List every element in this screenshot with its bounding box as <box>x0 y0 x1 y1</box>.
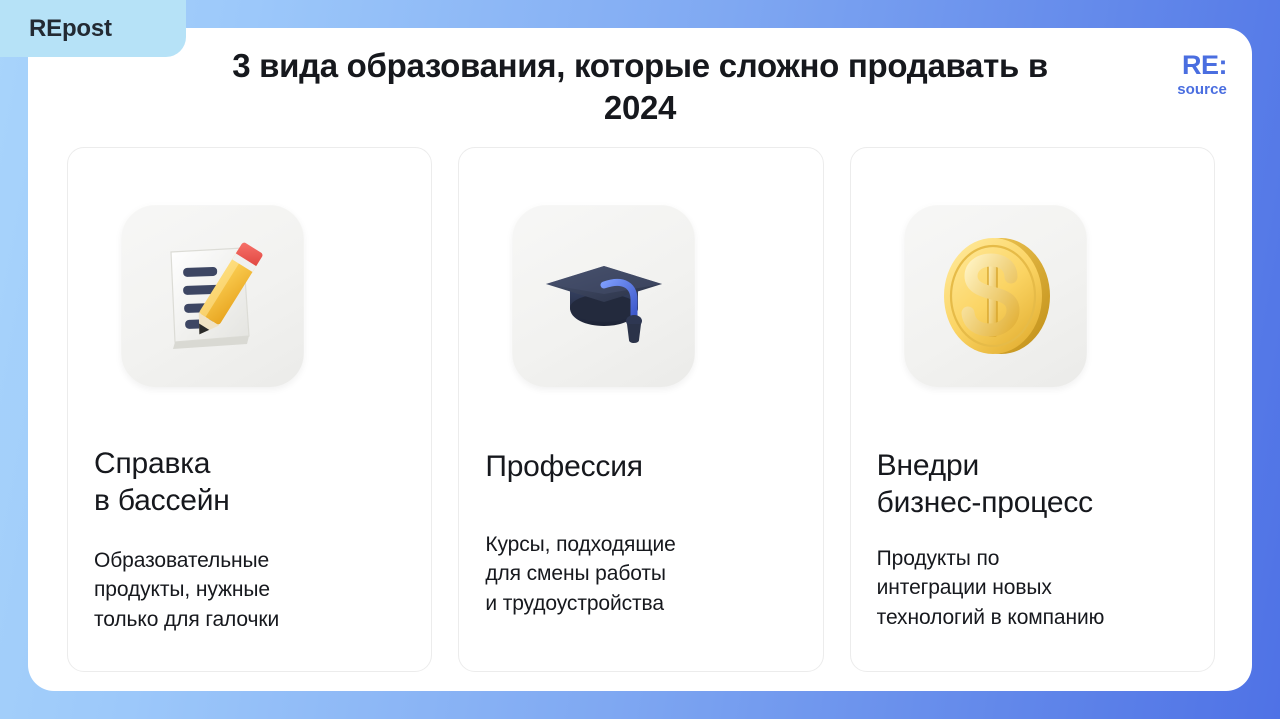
card-spravka-v-bassein: Справка в бассейн Образовательные продук… <box>67 147 432 672</box>
logo-re-text: RE: <box>1177 52 1227 79</box>
repost-badge-label: REpost <box>29 15 112 43</box>
memo-pencil-icon <box>121 204 304 387</box>
card-title: Профессия <box>485 448 796 486</box>
card-title: Внедри бизнес-процесс <box>877 447 1188 522</box>
card-description: Образовательные продукты, нужные только … <box>94 546 405 635</box>
card-body: Профессия Курсы, подходящие для смены ра… <box>485 448 796 671</box>
resource-logo: RE: source <box>1177 52 1227 97</box>
cards-row: Справка в бассейн Образовательные продук… <box>67 147 1215 672</box>
card-vnedri-biznes-process: Внедри бизнес-процесс Продукты по интегр… <box>850 147 1215 672</box>
card-description: Курсы, подходящие для смены работы и тру… <box>485 530 796 619</box>
logo-source-text: source <box>1177 82 1227 97</box>
card-professiya: Профессия Курсы, подходящие для смены ра… <box>458 147 823 672</box>
graduation-cap-icon <box>512 204 695 387</box>
dollar-coin-icon <box>904 204 1087 387</box>
card-title: Справка в бассейн <box>94 445 405 520</box>
card-description: Продукты по интеграции новых технологий … <box>877 544 1188 633</box>
card-body: Справка в бассейн Образовательные продук… <box>94 445 405 671</box>
card-body: Внедри бизнес-процесс Продукты по интегр… <box>877 447 1188 671</box>
repost-badge: REpost <box>0 0 186 57</box>
page-title: 3 вида образования, которые сложно прода… <box>208 45 1072 129</box>
content-panel: RE: source 3 вида образования, которые с… <box>28 28 1252 691</box>
